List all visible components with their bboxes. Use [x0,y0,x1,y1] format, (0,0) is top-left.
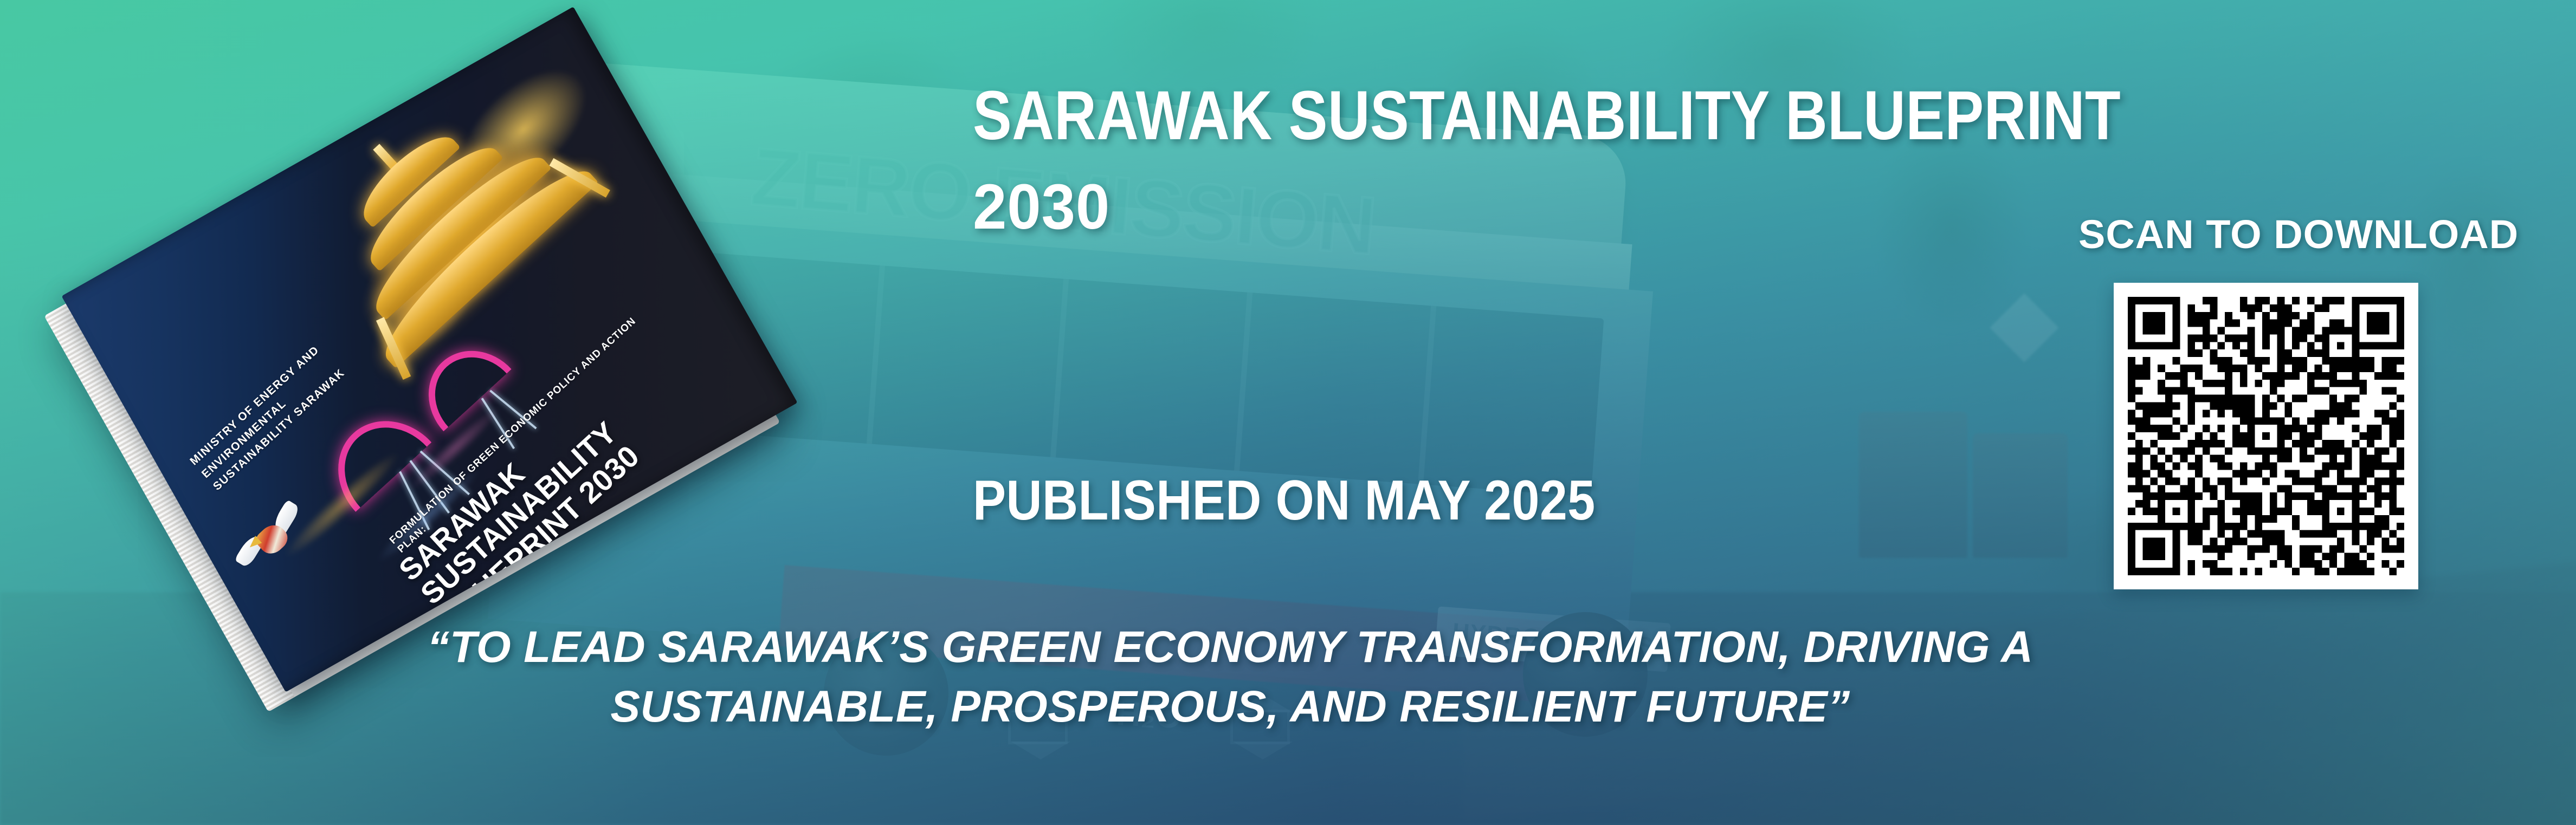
vision-quote: “TO LEAD SARAWAK’S GREEN ECONOMY TRANSFO… [369,618,2092,737]
scan-to-download-label: SCAN TO DOWNLOAD [2078,211,2519,257]
qr-code[interactable] [2114,283,2418,589]
qr-code-canvas[interactable] [2128,297,2404,575]
book-cover: MINISTRY OF ENERGY AND ENVIRONMENTAL SUS… [62,7,798,692]
headline-line-1: SARAWAK SUSTAINABILITY BLUEPRINT [973,81,2138,151]
sarawak-sustainability-banner: ZERO EMISSION HYDROGEN BUS H₂O [0,0,2576,825]
book-mockup: MINISTRY OF ENERGY AND ENVIRONMENTAL SUS… [98,70,813,710]
published-date: PUBLISHED ON MAY 2025 [973,469,1596,533]
